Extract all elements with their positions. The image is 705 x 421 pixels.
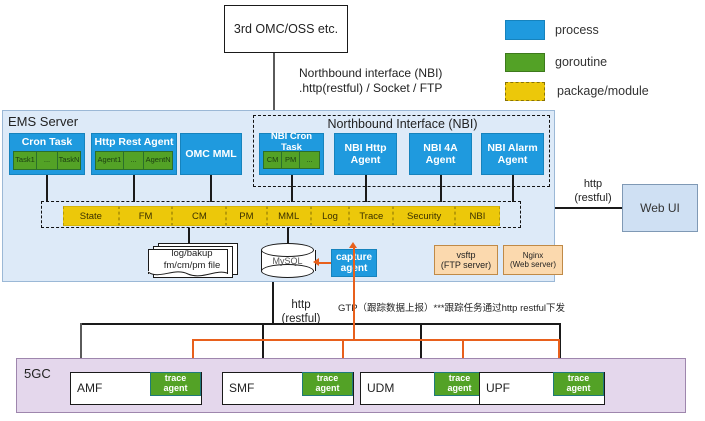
legend-swatch-process	[505, 20, 545, 40]
web-ui-link-label: http (restful)	[566, 178, 620, 206]
web-ui-link-label-line1: http	[584, 178, 602, 192]
module-nbi[interactable]: NBI	[455, 206, 500, 226]
process-nbi-cron-task[interactable]: NBI Cron Task CM PM ...	[259, 133, 324, 175]
connector-nbi-cron-task-to-modules	[291, 175, 293, 202]
web-ui-box[interactable]: Web UI	[622, 184, 698, 232]
process-http-rest-agent[interactable]: Http Rest Agent Agent1 ... AgentN	[91, 133, 177, 175]
server-nginx-line2: (Web server)	[510, 260, 556, 269]
connector-omc-mml-to-modules	[210, 175, 212, 202]
goroutine-taskn[interactable]: TaskN	[58, 151, 81, 170]
module-trace[interactable]: Trace	[349, 206, 393, 226]
mysql-database-icon: MySQL	[261, 243, 314, 278]
legend-label-package-module: package/module	[557, 84, 649, 98]
core-5gc-title: 5GC	[24, 366, 51, 381]
external-omc-oss-box: 3rd OMC/OSS etc.	[224, 5, 348, 53]
nbi-link-label-line2: .http(restful) / Socket / FTP	[299, 81, 442, 96]
nf-udm[interactable]: UDM trace agent	[360, 372, 486, 405]
connector-omc-to-nbi	[273, 53, 275, 110]
trace-agent-upf-line2: agent	[566, 384, 590, 394]
nf-upf-label: UPF	[486, 381, 510, 395]
connector-nbi-4a-agent-to-modules	[440, 175, 442, 202]
goroutine-task-ellipsis[interactable]: ...	[37, 151, 58, 170]
trace-agent-amf-line2: agent	[163, 384, 187, 394]
server-nginx-line1: Nginx	[523, 251, 543, 260]
server-vsftp-line1: vsftp	[456, 250, 475, 260]
architecture-diagram: process goroutine package/module 3rd OMC…	[0, 0, 705, 421]
connector-nbi-alarm-agent-to-modules	[512, 175, 514, 202]
arrow-capture-agent-to-mysql	[313, 258, 319, 266]
legend-swatch-package-module	[505, 82, 545, 101]
nf-amf-label: AMF	[77, 381, 102, 395]
nbi-link-label-line1: Northbound interface (NBI)	[299, 66, 442, 81]
goroutine-task1[interactable]: Task1	[13, 151, 37, 170]
module-log[interactable]: Log	[311, 206, 349, 226]
nf-upf[interactable]: UPF trace agent	[479, 372, 605, 405]
process-nbi-alarm-agent[interactable]: NBI Alarm Agent	[481, 133, 544, 175]
module-fm[interactable]: FM	[119, 206, 173, 226]
connector-ems-to-web-ui	[555, 207, 622, 209]
module-mml[interactable]: MML	[267, 206, 311, 226]
module-security[interactable]: Security	[393, 206, 454, 226]
goroutine-nbi-cm[interactable]: CM	[263, 151, 282, 169]
process-nbi-4a-agent-label-line2: Agent	[426, 154, 456, 166]
arrow-gtp-to-capture-agent	[349, 242, 357, 248]
server-vsftp-line2: (FTP server)	[441, 260, 491, 270]
nf-smf-label: SMF	[229, 381, 254, 395]
module-cm[interactable]: CM	[172, 206, 226, 226]
module-bar: StateFMCMPMMMLLogTraceSecurityNBI	[63, 206, 500, 224]
trace-agent-udm-line2: agent	[447, 384, 471, 394]
gtp-note-label: GTP（跟踪数据上报）***跟踪任务通过http restful下发	[338, 303, 565, 315]
file-stack-icon: log/bakup fm/cm/pm file	[148, 243, 236, 278]
file-stack-label-line2: fm/cm/pm file	[164, 260, 220, 272]
goroutine-nbi-ellipsis[interactable]: ...	[300, 151, 320, 169]
legend-label-process: process	[555, 23, 599, 37]
process-nbi-alarm-agent-label-line1: NBI Alarm	[487, 142, 537, 154]
process-nbi-4a-agent[interactable]: NBI 4A Agent	[409, 133, 472, 175]
process-nbi-http-agent[interactable]: NBI Http Agent	[334, 133, 397, 175]
nf-smf[interactable]: SMF trace agent	[222, 372, 354, 405]
process-nbi-cron-task-label: NBI Cron Task	[260, 134, 323, 151]
http-restful-label-line2: (restful)	[282, 312, 321, 326]
connector-gtp-horizontal	[192, 339, 558, 341]
trace-agent-upf[interactable]: trace agent	[553, 372, 604, 396]
legend-swatch-goroutine	[505, 53, 545, 72]
goroutine-agentn[interactable]: AgentN	[144, 151, 173, 170]
module-pm[interactable]: PM	[226, 206, 266, 226]
server-nginx: Nginx (Web server)	[503, 245, 563, 275]
trace-agent-smf-line2: agent	[315, 384, 339, 394]
connector-cron-task-to-modules	[46, 175, 48, 202]
goroutine-agent1[interactable]: Agent1	[95, 151, 124, 170]
legend-label-goroutine: goroutine	[555, 55, 607, 69]
process-nbi-alarm-agent-label-line2: Agent	[498, 154, 528, 166]
goroutine-agent-ellipsis[interactable]: ...	[124, 151, 144, 170]
nbi-group-title: Northbound Interface (NBI)	[265, 117, 540, 131]
nf-amf[interactable]: AMF trace agent	[70, 372, 202, 405]
ems-server-title: EMS Server	[8, 114, 78, 129]
process-omc-mml[interactable]: OMC MML	[180, 133, 242, 175]
trace-agent-amf[interactable]: trace agent	[150, 372, 201, 396]
connector-bus-horizontal	[80, 323, 560, 325]
process-http-rest-agent-label: Http Rest Agent	[92, 134, 176, 151]
file-stack-label-line1: log/bakup	[171, 248, 212, 260]
module-state[interactable]: State	[63, 206, 119, 226]
http-restful-label-line1: http	[291, 298, 310, 312]
goroutine-nbi-pm[interactable]: PM	[282, 151, 300, 169]
web-ui-link-label-line2: (restful)	[574, 192, 611, 206]
nf-udm-label: UDM	[367, 381, 394, 395]
process-cron-task[interactable]: Cron Task Task1 ... TaskN	[9, 133, 85, 175]
connector-nbi-http-agent-to-modules	[365, 175, 367, 202]
connector-capture-agent-to-mysql	[319, 262, 331, 264]
process-nbi-http-agent-label-line1: NBI Http	[345, 142, 387, 154]
process-cron-task-label: Cron Task	[10, 134, 84, 151]
server-vsftp: vsftp (FTP server)	[434, 245, 498, 275]
trace-agent-udm[interactable]: trace agent	[434, 372, 485, 396]
process-nbi-http-agent-label-line2: Agent	[351, 154, 381, 166]
connector-ems-to-bus	[272, 282, 274, 324]
connector-gtp-riser	[353, 248, 355, 340]
process-nbi-4a-agent-label-line1: NBI 4A	[423, 142, 457, 154]
trace-agent-smf[interactable]: trace agent	[302, 372, 353, 396]
mysql-label: MySQL	[261, 243, 314, 278]
connector-http-rest-agent-to-modules	[133, 175, 135, 202]
